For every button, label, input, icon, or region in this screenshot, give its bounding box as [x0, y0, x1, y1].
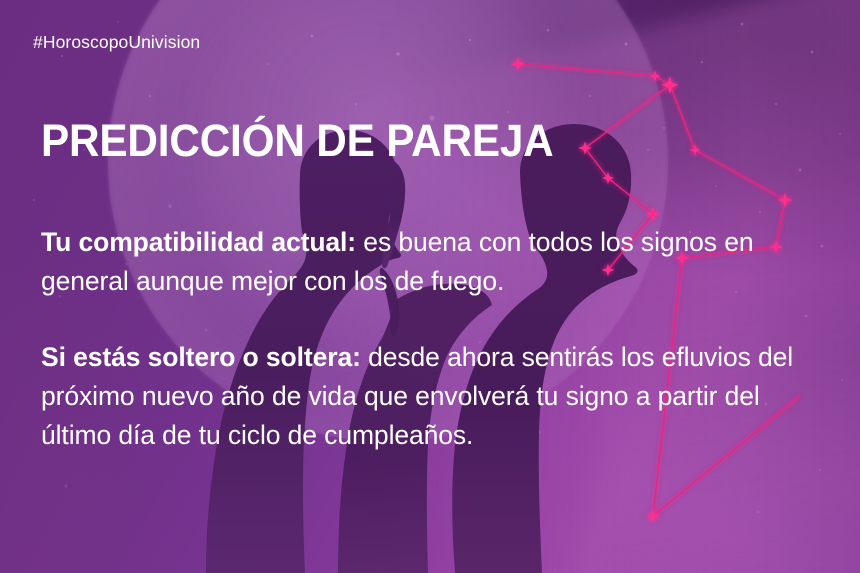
- paragraph-compatibility: Tu compatibilidad actual: es buena con t…: [41, 223, 831, 301]
- card-content: #HoroscopoUnivision PREDICCIÓN DE PAREJA…: [0, 0, 860, 573]
- hashtag-label: #HoroscopoUnivision: [33, 32, 200, 53]
- body-copy: Tu compatibilidad actual: es buena con t…: [41, 196, 831, 481]
- paragraph-single: Si estás soltero o soltera: desde ahora …: [41, 338, 831, 455]
- paragraph-single-lead: Si estás soltero o soltera:: [41, 342, 361, 372]
- paragraph-compatibility-lead: Tu compatibilidad actual:: [41, 227, 356, 257]
- page-title: PREDICCIÓN DE PAREJA: [41, 118, 554, 164]
- horoscope-card: #HoroscopoUnivision PREDICCIÓN DE PAREJA…: [0, 0, 860, 573]
